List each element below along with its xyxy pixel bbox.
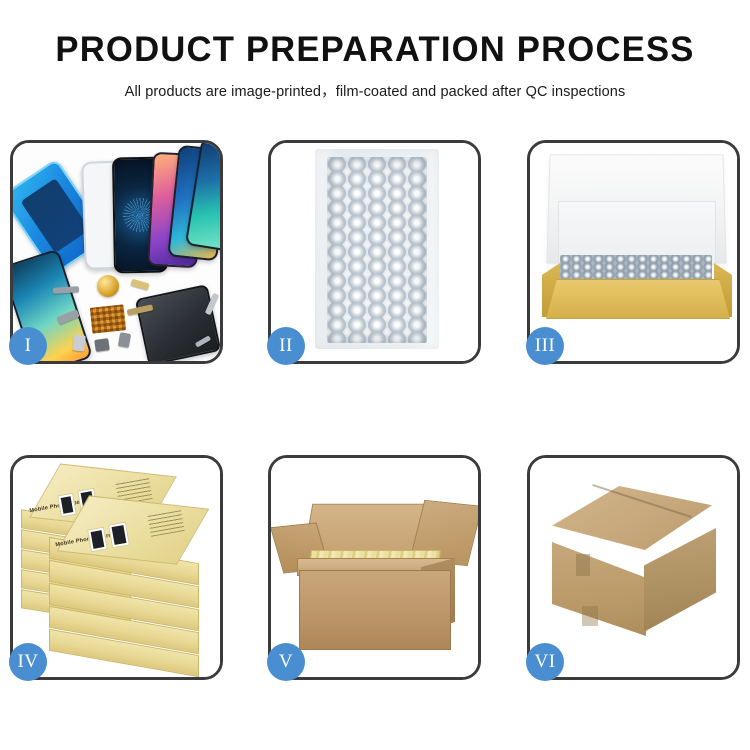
gold-camera-ring-part bbox=[97, 275, 119, 297]
step-badge-6: VI bbox=[526, 643, 564, 681]
bubble-wrap-illustration bbox=[271, 143, 478, 361]
process-step-panel-2[interactable]: II bbox=[268, 140, 481, 364]
camera-module-part bbox=[118, 332, 131, 348]
carton-front-panel bbox=[299, 570, 451, 650]
panel-3-image bbox=[530, 143, 737, 361]
sealed-carton-label-patch-1 bbox=[576, 554, 590, 576]
connector-chip-part bbox=[90, 304, 127, 333]
process-step-panel-4[interactable]: Mobile Phone Spare Parts Mobile Phone Sp… bbox=[10, 455, 223, 680]
sealed-carton-left-face bbox=[552, 542, 646, 636]
step-badge-1: I bbox=[9, 327, 47, 365]
process-step-panel-3[interactable]: III bbox=[527, 140, 740, 364]
sealed-carton-illustration bbox=[530, 458, 737, 677]
mailer-bubble-contents bbox=[560, 255, 712, 283]
process-step-panel-6[interactable]: VI bbox=[527, 455, 740, 680]
panel-2-image bbox=[271, 143, 478, 361]
panel-4-image: Mobile Phone Spare Parts Mobile Phone Sp… bbox=[13, 458, 220, 677]
phone-back-housing bbox=[135, 284, 220, 361]
open-mailer-illustration bbox=[530, 143, 737, 361]
box-screen-graphic-front-2 bbox=[108, 522, 130, 549]
process-step-panel-1[interactable]: I bbox=[10, 140, 223, 364]
box-stack: Mobile Phone Spare Parts Mobile Phone Sp… bbox=[13, 458, 220, 677]
step-badge-2: II bbox=[267, 327, 305, 365]
sim-tray-part bbox=[72, 334, 86, 351]
stacked-boxes-illustration: Mobile Phone Spare Parts Mobile Phone Sp… bbox=[13, 458, 220, 677]
gold-contact-part bbox=[130, 279, 149, 291]
panel-5-image bbox=[271, 458, 478, 677]
open-carton-illustration bbox=[271, 458, 478, 677]
bubble-pattern bbox=[327, 157, 427, 343]
process-step-panel-5[interactable]: V bbox=[268, 455, 481, 680]
process-step-grid: I II III bbox=[0, 0, 750, 750]
mailer-front-panel bbox=[546, 279, 730, 319]
speaker-part bbox=[94, 338, 110, 352]
step-badge-5: V bbox=[267, 643, 305, 681]
sealed-carton-label-patch-2 bbox=[582, 606, 598, 626]
sealed-carton-right-face bbox=[644, 528, 716, 632]
step-badge-3: III bbox=[526, 327, 564, 365]
flex-cable-part bbox=[53, 286, 79, 294]
panel-1-image bbox=[13, 143, 220, 361]
panel-6-image bbox=[530, 458, 737, 677]
step-badge-4: IV bbox=[9, 643, 47, 681]
phones-and-parts-illustration bbox=[13, 143, 220, 361]
sealed-carton-top bbox=[552, 486, 712, 550]
